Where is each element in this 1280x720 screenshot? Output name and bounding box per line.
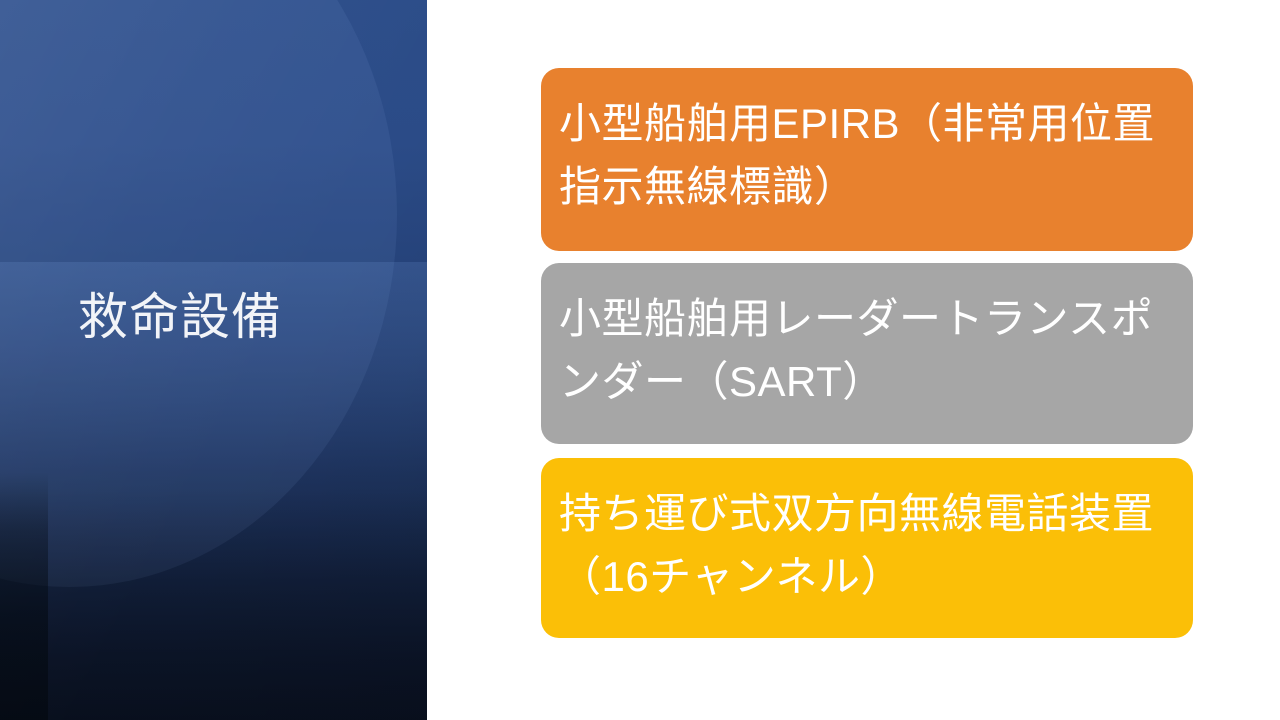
list-item-epirb[interactable]: 小型船舶用EPIRB（非常用位置指示無線標識）	[541, 68, 1193, 251]
list-item-two-way-radiotelephone[interactable]: 持ち運び式双方向無線電話装置（16チャンネル）	[541, 458, 1193, 638]
slide-title: 救命設備	[78, 288, 408, 347]
slide: 救命設備 小型船舶用EPIRB（非常用位置指示無線標識） 小型船舶用レーダートラ…	[0, 0, 1280, 720]
title-panel: 救命設備	[0, 0, 427, 720]
list-item-label: 小型船舶用レーダートランスポンダー（SART）	[559, 287, 1173, 413]
list-item-label: 小型船舶用EPIRB（非常用位置指示無線標識）	[559, 92, 1173, 218]
decorative-bottom-vignette	[0, 490, 427, 720]
equipment-list: 小型船舶用EPIRB（非常用位置指示無線標識） 小型船舶用レーダートランスポンダ…	[541, 68, 1193, 638]
list-item-sart[interactable]: 小型船舶用レーダートランスポンダー（SART）	[541, 263, 1193, 444]
list-item-label: 持ち運び式双方向無線電話装置（16チャンネル）	[559, 482, 1173, 608]
